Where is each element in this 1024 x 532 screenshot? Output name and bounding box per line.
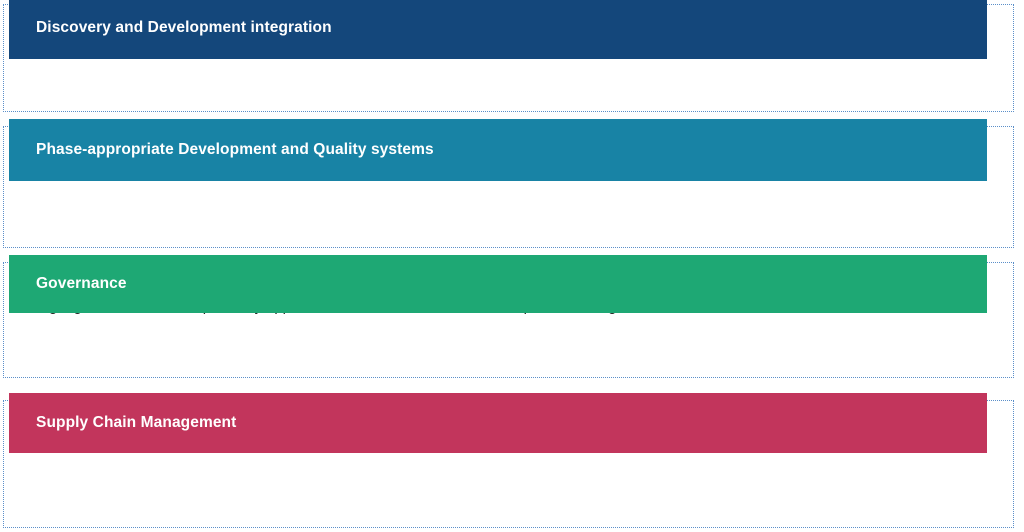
card-header-supply: Supply Chain Management [9, 393, 987, 453]
card-discovery: Discovery and Development integration Th… [3, 4, 1014, 112]
card-title-supply: Supply Chain Management [36, 414, 236, 433]
card-title-discovery: Discovery and Development integration [36, 19, 332, 38]
card-header-discovery: Discovery and Development integration [9, 0, 987, 59]
card-title-phase: Phase-appropriate Development and Qualit… [36, 141, 434, 160]
card-header-phase: Phase-appropriate Development and Qualit… [9, 119, 987, 181]
card-governance: Governance Right governance can help ide… [3, 262, 1014, 378]
cards-board: Discovery and Development integration Th… [0, 0, 1024, 532]
card-phase: Phase-appropriate Development and Qualit… [3, 126, 1014, 248]
card-header-governance: Governance [9, 255, 987, 313]
card-supply: Supply Chain Management The role of Supp… [3, 400, 1014, 528]
card-title-governance: Governance [36, 275, 127, 294]
